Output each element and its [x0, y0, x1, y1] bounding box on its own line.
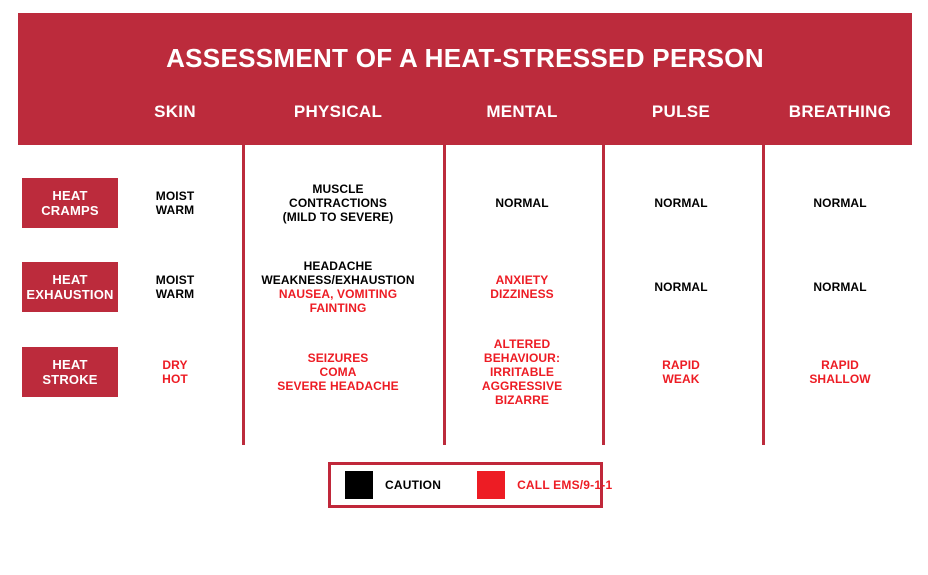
cell-text-caution: HEADACHEWEAKNESS/EXHAUSTION	[261, 259, 414, 287]
cell-3-mental: ALTEREDBEHAVIOUR:IRRITABLEAGGRESSIVEBIZA…	[482, 337, 562, 407]
cell-text-ems: NAUSEA, VOMITINGFAINTING	[261, 287, 414, 315]
legend-item-caution: CAUTION	[345, 465, 441, 505]
column-divider-2	[443, 145, 446, 445]
heat-stress-assessment-infographic: ASSESSMENT OF A HEAT-STRESSED PERSON SKI…	[0, 0, 928, 575]
cell-text-ems: DRYHOT	[162, 358, 188, 386]
column-header-breathing: BREATHING	[789, 101, 892, 123]
cell-1-pulse: NORMAL	[654, 196, 707, 210]
column-divider-4	[762, 145, 765, 445]
row-label-heat-stroke: HEATSTROKE	[22, 347, 118, 397]
page-title: ASSESSMENT OF A HEAT-STRESSED PERSON	[18, 43, 912, 73]
cell-1-skin: MOISTWARM	[156, 189, 195, 217]
cell-text-ems: ALTEREDBEHAVIOUR:IRRITABLEAGGRESSIVEBIZA…	[482, 337, 562, 407]
legend-swatch-caution-icon	[345, 471, 373, 499]
column-header-mental: MENTAL	[486, 101, 557, 123]
cell-3-pulse: RAPIDWEAK	[662, 358, 700, 386]
row-label-heat-exhaustion: HEATEXHAUSTION	[22, 262, 118, 312]
cell-2-mental: ANXIETYDIZZINESS	[490, 273, 554, 301]
legend-label-ems: CALL EMS/9-1-1	[517, 478, 612, 492]
cell-3-skin: DRYHOT	[162, 358, 188, 386]
cell-1-physical: MUSCLECONTRACTIONS(MILD TO SEVERE)	[283, 182, 394, 224]
legend-swatch-ems-icon	[477, 471, 505, 499]
cell-1-breathing: NORMAL	[813, 196, 866, 210]
legend-label-caution: CAUTION	[385, 478, 441, 492]
column-header-physical: PHYSICAL	[294, 101, 382, 123]
cell-2-physical: HEADACHEWEAKNESS/EXHAUSTIONNAUSEA, VOMIT…	[261, 259, 414, 315]
column-divider-3	[602, 145, 605, 445]
cell-3-physical: SEIZURESCOMASEVERE HEADACHE	[277, 351, 399, 393]
cell-2-skin: MOISTWARM	[156, 273, 195, 301]
cell-text-caution: NORMAL	[495, 196, 548, 210]
row-label-heat-cramps: HEATCRAMPS	[22, 178, 118, 228]
cell-text-caution: NORMAL	[654, 280, 707, 294]
cell-text-ems: RAPIDWEAK	[662, 358, 700, 386]
column-divider-1	[242, 145, 245, 445]
cell-text-caution: NORMAL	[813, 280, 866, 294]
column-header-pulse: PULSE	[652, 101, 710, 123]
column-header-row: SKINPHYSICALMENTALPULSEBREATHING	[18, 101, 912, 131]
column-header-skin: SKIN	[154, 101, 196, 123]
cell-text-ems: ANXIETYDIZZINESS	[490, 273, 554, 301]
cell-text-caution: NORMAL	[813, 196, 866, 210]
cell-text-ems: RAPIDSHALLOW	[809, 358, 870, 386]
legend: CAUTION CALL EMS/9-1-1	[328, 462, 603, 508]
cell-text-caution: MOISTWARM	[156, 189, 195, 217]
cell-text-caution: MOISTWARM	[156, 273, 195, 301]
cell-text-ems: SEIZURESCOMASEVERE HEADACHE	[277, 351, 399, 393]
header-banner: ASSESSMENT OF A HEAT-STRESSED PERSON SKI…	[18, 13, 912, 145]
cell-2-pulse: NORMAL	[654, 280, 707, 294]
cell-1-mental: NORMAL	[495, 196, 548, 210]
cell-text-caution: NORMAL	[654, 196, 707, 210]
cell-3-breathing: RAPIDSHALLOW	[809, 358, 870, 386]
legend-item-ems: CALL EMS/9-1-1	[477, 465, 612, 505]
cell-text-caution: MUSCLECONTRACTIONS(MILD TO SEVERE)	[283, 182, 394, 224]
cell-2-breathing: NORMAL	[813, 280, 866, 294]
